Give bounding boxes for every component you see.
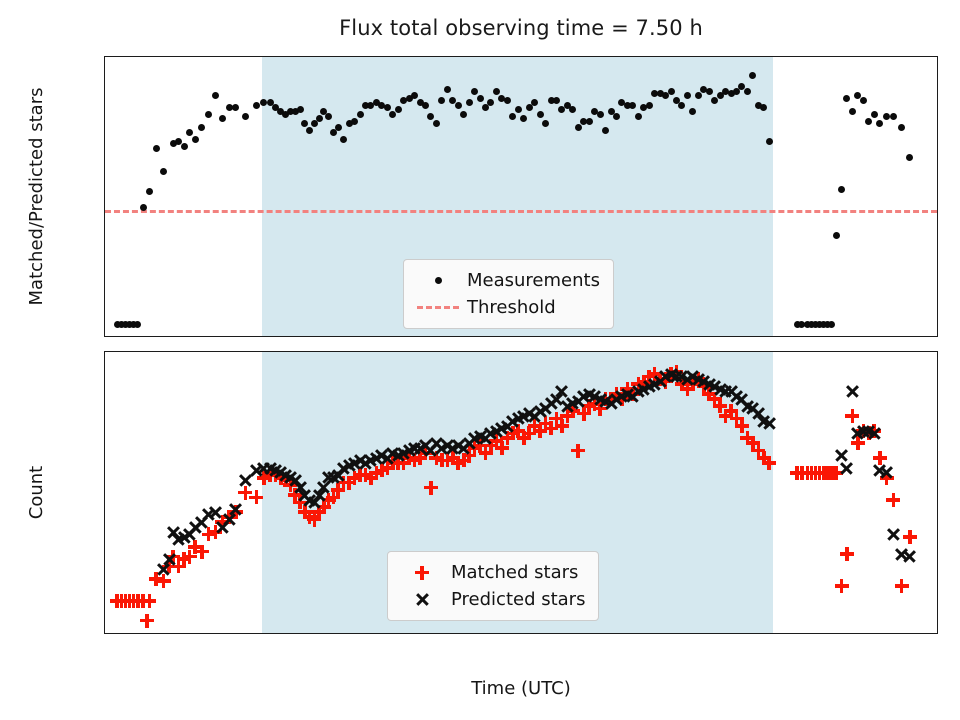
y-axis-label-bottom: Count xyxy=(26,351,47,634)
data-point xyxy=(422,102,429,109)
legend-label-matched-stars: Matched stars xyxy=(451,562,578,583)
legend-item-matched-stars[interactable]: Matched stars xyxy=(399,559,585,586)
figure-canvas: Flux total observing time = 7.50 h Match… xyxy=(0,0,960,720)
data-point xyxy=(876,120,883,127)
x-axis-label: Time (UTC) xyxy=(104,678,938,699)
page-title: Flux total observing time = 7.50 h xyxy=(104,16,938,40)
data-point xyxy=(384,104,391,111)
data-point xyxy=(635,113,642,120)
data-point xyxy=(181,143,188,150)
data-point xyxy=(629,102,636,109)
data-point xyxy=(898,124,905,131)
data-point xyxy=(586,118,593,125)
data-point xyxy=(833,232,840,239)
y-axis-tick xyxy=(104,478,105,479)
x-axis-tick xyxy=(698,336,699,337)
data-point xyxy=(477,95,484,102)
data-point xyxy=(351,118,358,125)
y-axis-tick xyxy=(104,379,105,380)
legend-item-threshold[interactable]: Threshold xyxy=(415,294,600,321)
data-point xyxy=(153,145,160,152)
data-point xyxy=(460,111,467,118)
data-point xyxy=(890,113,897,120)
data-point xyxy=(232,104,239,111)
data-point xyxy=(433,120,440,127)
data-point xyxy=(678,102,685,109)
x-axis-tick xyxy=(289,336,290,337)
legend-item-measurements[interactable]: Measurements xyxy=(415,267,600,294)
y-axis-tick xyxy=(104,527,105,528)
data-point xyxy=(597,111,604,118)
threshold-dashed-line-icon xyxy=(415,298,461,318)
data-point xyxy=(493,88,500,95)
x-axis-tick xyxy=(426,336,427,337)
data-point xyxy=(843,95,850,102)
data-point xyxy=(706,88,713,95)
data-point xyxy=(860,97,867,104)
legend-label-threshold: Threshold xyxy=(467,297,556,318)
legend-item-predicted-stars[interactable]: Predicted stars xyxy=(399,586,585,613)
legend-bottom-panel[interactable]: Matched stars Predicted stars xyxy=(387,551,599,621)
y-axis-tick xyxy=(104,96,105,97)
data-point xyxy=(471,88,478,95)
data-point xyxy=(871,111,878,118)
data-point xyxy=(219,115,226,122)
data-point xyxy=(242,113,249,120)
data-point xyxy=(134,321,141,328)
data-point xyxy=(357,111,364,118)
matched-stars-plus-icon xyxy=(399,563,445,583)
data-point xyxy=(444,86,451,93)
x-axis-tick xyxy=(698,633,699,634)
y-axis-label-top: Matched/Predicted stars xyxy=(26,56,47,337)
data-point xyxy=(306,127,313,134)
data-point xyxy=(455,102,462,109)
x-axis-tick xyxy=(426,633,427,634)
data-point xyxy=(186,129,193,136)
data-point xyxy=(838,186,845,193)
y-axis-tick xyxy=(104,233,105,234)
data-point xyxy=(849,108,856,115)
y-axis-tick xyxy=(104,187,105,188)
data-point xyxy=(297,106,304,113)
y-axis-tick xyxy=(104,626,105,627)
data-point xyxy=(542,120,549,127)
data-point xyxy=(340,136,347,143)
data-point xyxy=(537,111,544,118)
predicted-stars-x-icon xyxy=(399,590,445,610)
data-point xyxy=(646,102,653,109)
data-point xyxy=(212,92,219,99)
x-axis-tick xyxy=(153,633,154,634)
data-point xyxy=(198,124,205,131)
data-point xyxy=(613,113,620,120)
y-axis-tick xyxy=(104,325,105,326)
data-point xyxy=(192,136,199,143)
legend-label-predicted-stars: Predicted stars xyxy=(451,589,585,610)
x-axis-tick xyxy=(835,633,836,634)
data-point xyxy=(515,106,522,113)
data-point xyxy=(504,97,511,104)
x-axis-tick xyxy=(562,633,563,634)
data-point xyxy=(602,127,609,134)
y-axis-tick xyxy=(104,428,105,429)
data-point xyxy=(744,88,751,95)
y-axis-tick xyxy=(104,142,105,143)
data-point xyxy=(883,113,890,120)
data-point xyxy=(160,168,167,175)
data-point xyxy=(865,118,872,125)
legend-top-panel[interactable]: Measurements Threshold xyxy=(403,259,614,329)
legend-label-measurements: Measurements xyxy=(467,270,600,291)
data-point xyxy=(316,115,323,122)
data-point xyxy=(466,99,473,106)
threshold-line xyxy=(105,210,937,213)
y-axis-tick xyxy=(104,576,105,577)
y-axis-tick xyxy=(104,279,105,280)
data-point xyxy=(395,106,402,113)
x-axis-tick xyxy=(153,336,154,337)
data-point xyxy=(828,321,835,328)
data-point xyxy=(253,102,260,109)
x-axis-tick xyxy=(835,336,836,337)
x-axis-tick xyxy=(289,633,290,634)
measurements-dot-icon xyxy=(415,271,461,291)
data-point xyxy=(146,188,153,195)
data-point xyxy=(906,154,913,161)
data-point xyxy=(668,88,675,95)
data-point xyxy=(553,97,560,104)
data-point xyxy=(766,138,773,145)
data-point xyxy=(205,111,212,118)
x-axis-tick xyxy=(562,336,563,337)
